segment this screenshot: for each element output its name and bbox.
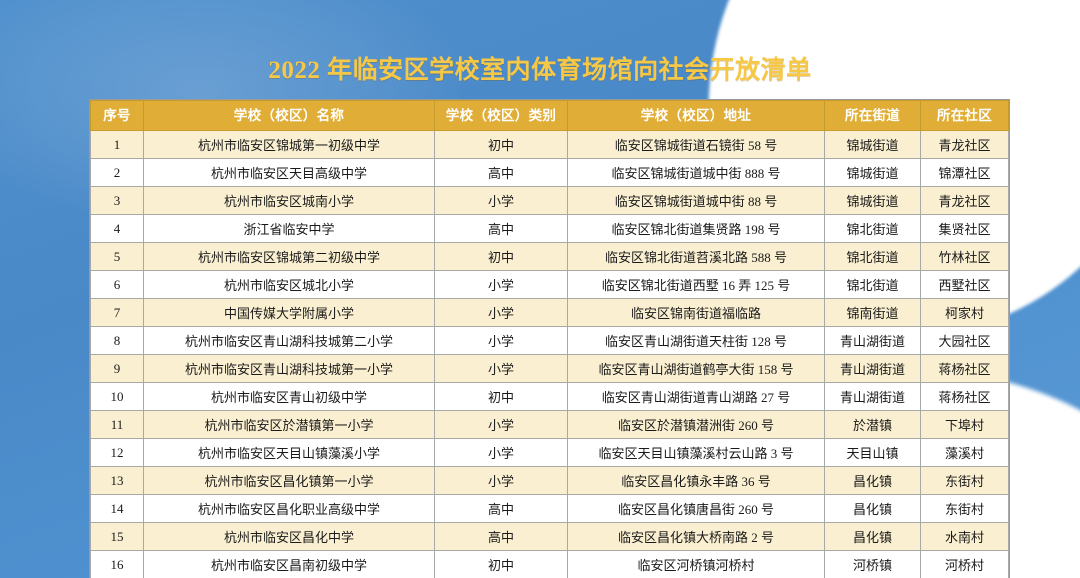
cell-community: 水南村 [921, 523, 1009, 551]
cell-school-name: 杭州市临安区青山初级中学 [144, 383, 435, 411]
cell-school-type: 小学 [435, 271, 568, 299]
cell-index: 2 [91, 159, 144, 187]
cell-community: 竹林社区 [921, 243, 1009, 271]
cell-community: 锦潭社区 [921, 159, 1009, 187]
column-header-name: 学校（校区）名称 [144, 101, 435, 131]
table-row: 1杭州市临安区锦城第一初级中学初中临安区锦城街道石镜街 58 号锦城街道青龙社区 [91, 131, 1009, 159]
cell-street: 锦北街道 [825, 271, 921, 299]
table-row: 16杭州市临安区昌南初级中学初中临安区河桥镇河桥村河桥镇河桥村 [91, 551, 1009, 578]
cell-school-type: 初中 [435, 243, 568, 271]
table-row: 10杭州市临安区青山初级中学初中临安区青山湖街道青山湖路 27 号青山湖街道蒋杨… [91, 383, 1009, 411]
cell-school-name: 杭州市临安区城南小学 [144, 187, 435, 215]
cell-index: 3 [91, 187, 144, 215]
cell-school-name: 浙江省临安中学 [144, 215, 435, 243]
schools-table: 序号 学校（校区）名称 学校（校区）类别 学校（校区）地址 所在街道 所在社区 … [90, 100, 1009, 578]
cell-school-address: 临安区昌化镇唐昌街 260 号 [568, 495, 825, 523]
cell-school-name: 杭州市临安区昌化职业高级中学 [144, 495, 435, 523]
cell-school-type: 初中 [435, 551, 568, 578]
cell-index: 12 [91, 439, 144, 467]
cell-school-name: 杭州市临安区青山湖科技城第二小学 [144, 327, 435, 355]
cell-community: 蒋杨社区 [921, 383, 1009, 411]
cell-index: 5 [91, 243, 144, 271]
cell-street: 河桥镇 [825, 551, 921, 578]
cell-school-address: 临安区青山湖街道青山湖路 27 号 [568, 383, 825, 411]
cell-street: 青山湖街道 [825, 327, 921, 355]
cell-index: 15 [91, 523, 144, 551]
cell-community: 下埠村 [921, 411, 1009, 439]
cell-school-type: 小学 [435, 355, 568, 383]
cell-school-address: 临安区青山湖街道鹤亭大街 158 号 [568, 355, 825, 383]
table-row: 13杭州市临安区昌化镇第一小学小学临安区昌化镇永丰路 36 号昌化镇东街村 [91, 467, 1009, 495]
cell-community: 蒋杨社区 [921, 355, 1009, 383]
table-row: 15杭州市临安区昌化中学高中临安区昌化镇大桥南路 2 号昌化镇水南村 [91, 523, 1009, 551]
cell-school-type: 小学 [435, 299, 568, 327]
cell-school-name: 杭州市临安区昌南初级中学 [144, 551, 435, 578]
table-row: 4浙江省临安中学高中临安区锦北街道集贤路 198 号锦北街道集贤社区 [91, 215, 1009, 243]
cell-community: 东街村 [921, 495, 1009, 523]
cell-index: 9 [91, 355, 144, 383]
cell-school-name: 杭州市临安区昌化镇第一小学 [144, 467, 435, 495]
cell-school-address: 临安区昌化镇永丰路 36 号 [568, 467, 825, 495]
cell-school-address: 临安区锦城街道城中街 888 号 [568, 159, 825, 187]
cell-community: 青龙社区 [921, 187, 1009, 215]
cell-school-address: 临安区锦城街道城中街 88 号 [568, 187, 825, 215]
column-header-address: 学校（校区）地址 [568, 101, 825, 131]
cell-school-type: 高中 [435, 215, 568, 243]
cell-street: 昌化镇 [825, 495, 921, 523]
cell-street: 昌化镇 [825, 523, 921, 551]
cell-index: 6 [91, 271, 144, 299]
cell-index: 10 [91, 383, 144, 411]
cell-school-type: 小学 [435, 411, 568, 439]
table-row: 12杭州市临安区天目山镇藻溪小学小学临安区天目山镇藻溪村云山路 3 号天目山镇藻… [91, 439, 1009, 467]
cell-street: 昌化镇 [825, 467, 921, 495]
cell-community: 河桥村 [921, 551, 1009, 578]
cell-school-type: 初中 [435, 131, 568, 159]
cell-school-name: 杭州市临安区昌化中学 [144, 523, 435, 551]
cell-street: 於潜镇 [825, 411, 921, 439]
schools-table-container: 序号 学校（校区）名称 学校（校区）类别 学校（校区）地址 所在街道 所在社区 … [90, 100, 990, 578]
cell-street: 青山湖街道 [825, 355, 921, 383]
cell-index: 16 [91, 551, 144, 578]
cell-street: 锦北街道 [825, 243, 921, 271]
cell-school-address: 临安区锦北街道西墅 16 弄 125 号 [568, 271, 825, 299]
table-row: 11杭州市临安区於潜镇第一小学小学临安区於潜镇潜洲街 260 号於潜镇下埠村 [91, 411, 1009, 439]
cell-school-address: 临安区天目山镇藻溪村云山路 3 号 [568, 439, 825, 467]
column-header-street: 所在街道 [825, 101, 921, 131]
table-row: 9杭州市临安区青山湖科技城第一小学小学临安区青山湖街道鹤亭大街 158 号青山湖… [91, 355, 1009, 383]
table-row: 2杭州市临安区天目高级中学高中临安区锦城街道城中街 888 号锦城街道锦潭社区 [91, 159, 1009, 187]
table-row: 6杭州市临安区城北小学小学临安区锦北街道西墅 16 弄 125 号锦北街道西墅社… [91, 271, 1009, 299]
cell-index: 11 [91, 411, 144, 439]
cell-school-type: 高中 [435, 523, 568, 551]
cell-school-type: 小学 [435, 327, 568, 355]
cell-index: 7 [91, 299, 144, 327]
cell-school-type: 高中 [435, 159, 568, 187]
cell-school-name: 杭州市临安区天目山镇藻溪小学 [144, 439, 435, 467]
cell-street: 天目山镇 [825, 439, 921, 467]
cell-school-type: 小学 [435, 439, 568, 467]
table-row: 7中国传媒大学附属小学小学临安区锦南街道福临路锦南街道柯家村 [91, 299, 1009, 327]
cell-index: 14 [91, 495, 144, 523]
cell-street: 锦南街道 [825, 299, 921, 327]
cell-index: 8 [91, 327, 144, 355]
cell-street: 锦北街道 [825, 215, 921, 243]
cell-street: 青山湖街道 [825, 383, 921, 411]
cell-community: 集贤社区 [921, 215, 1009, 243]
cell-community: 柯家村 [921, 299, 1009, 327]
cell-school-type: 初中 [435, 383, 568, 411]
cell-school-name: 杭州市临安区锦城第二初级中学 [144, 243, 435, 271]
table-body: 1杭州市临安区锦城第一初级中学初中临安区锦城街道石镜街 58 号锦城街道青龙社区… [91, 131, 1009, 578]
cell-community: 大园社区 [921, 327, 1009, 355]
cell-school-name: 杭州市临安区天目高级中学 [144, 159, 435, 187]
table-row: 3杭州市临安区城南小学小学临安区锦城街道城中街 88 号锦城街道青龙社区 [91, 187, 1009, 215]
cell-school-name: 杭州市临安区於潜镇第一小学 [144, 411, 435, 439]
cell-school-address: 临安区锦北街道苕溪北路 588 号 [568, 243, 825, 271]
table-row: 8杭州市临安区青山湖科技城第二小学小学临安区青山湖街道天柱街 128 号青山湖街… [91, 327, 1009, 355]
cell-community: 青龙社区 [921, 131, 1009, 159]
document-page: 2022 年临安区学校室内体育场馆向社会开放清单 序号 学校（校区）名称 学校（… [0, 0, 1080, 578]
column-header-community: 所在社区 [921, 101, 1009, 131]
cell-school-name: 杭州市临安区锦城第一初级中学 [144, 131, 435, 159]
cell-school-address: 临安区锦南街道福临路 [568, 299, 825, 327]
page-title: 2022 年临安区学校室内体育场馆向社会开放清单 [0, 50, 1080, 86]
cell-school-type: 小学 [435, 187, 568, 215]
cell-school-name: 中国传媒大学附属小学 [144, 299, 435, 327]
table-header: 序号 学校（校区）名称 学校（校区）类别 学校（校区）地址 所在街道 所在社区 [91, 101, 1009, 131]
cell-school-address: 临安区锦城街道石镜街 58 号 [568, 131, 825, 159]
cell-school-type: 高中 [435, 495, 568, 523]
cell-community: 西墅社区 [921, 271, 1009, 299]
cell-community: 东街村 [921, 467, 1009, 495]
table-header-row: 序号 学校（校区）名称 学校（校区）类别 学校（校区）地址 所在街道 所在社区 [91, 101, 1009, 131]
table-row: 14杭州市临安区昌化职业高级中学高中临安区昌化镇唐昌街 260 号昌化镇东街村 [91, 495, 1009, 523]
cell-school-type: 小学 [435, 467, 568, 495]
cell-school-address: 临安区锦北街道集贤路 198 号 [568, 215, 825, 243]
cell-street: 锦城街道 [825, 131, 921, 159]
cell-community: 藻溪村 [921, 439, 1009, 467]
cell-school-address: 临安区於潜镇潜洲街 260 号 [568, 411, 825, 439]
cell-index: 1 [91, 131, 144, 159]
cell-school-address: 临安区青山湖街道天柱街 128 号 [568, 327, 825, 355]
cell-school-address: 临安区昌化镇大桥南路 2 号 [568, 523, 825, 551]
cell-school-name: 杭州市临安区青山湖科技城第一小学 [144, 355, 435, 383]
cell-school-address: 临安区河桥镇河桥村 [568, 551, 825, 578]
column-header-index: 序号 [91, 101, 144, 131]
cell-index: 4 [91, 215, 144, 243]
table-row: 5杭州市临安区锦城第二初级中学初中临安区锦北街道苕溪北路 588 号锦北街道竹林… [91, 243, 1009, 271]
column-header-type: 学校（校区）类别 [435, 101, 568, 131]
cell-street: 锦城街道 [825, 159, 921, 187]
cell-school-name: 杭州市临安区城北小学 [144, 271, 435, 299]
cell-index: 13 [91, 467, 144, 495]
cell-street: 锦城街道 [825, 187, 921, 215]
